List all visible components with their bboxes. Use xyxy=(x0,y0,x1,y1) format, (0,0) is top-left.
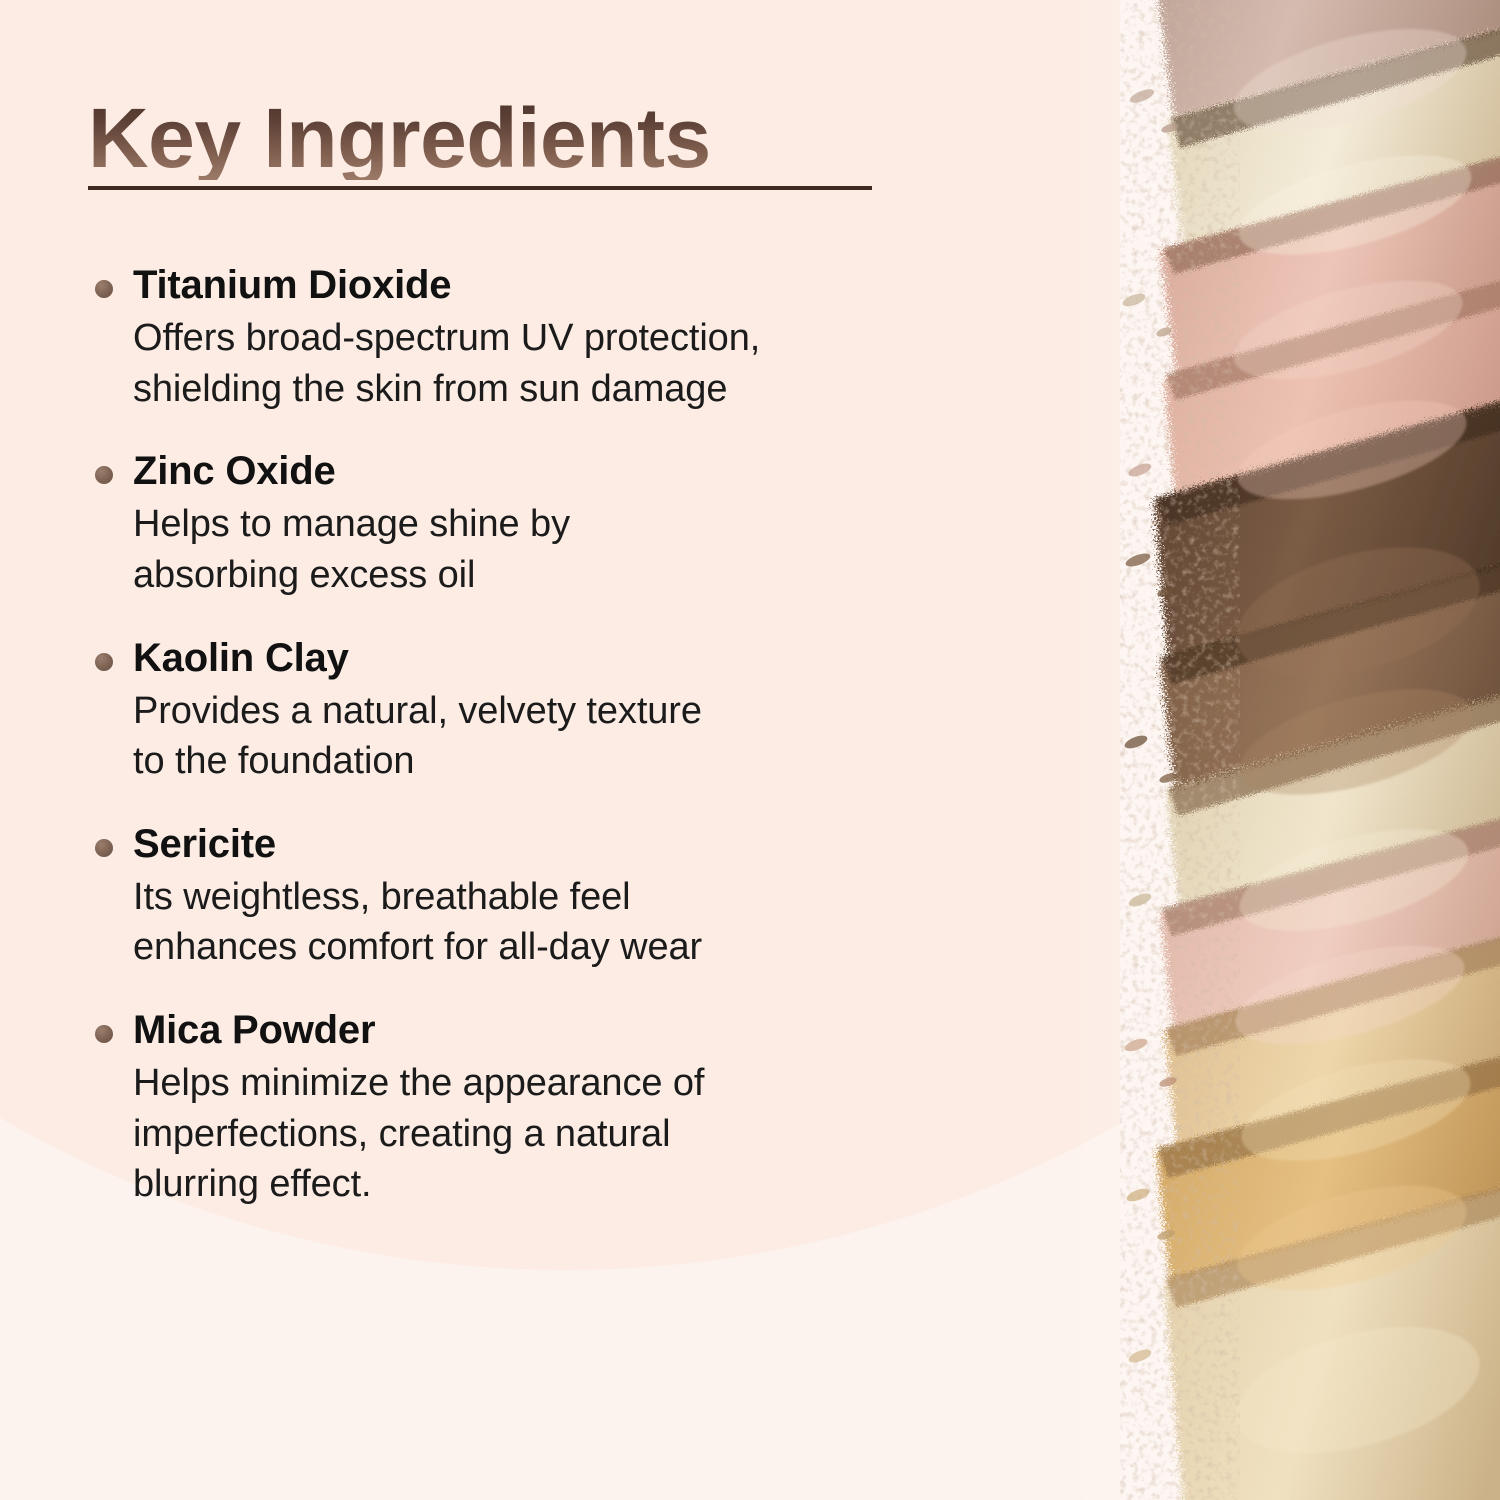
description-line: enhances comfort for all-day wear xyxy=(133,922,988,973)
ingredient-name: Mica Powder xyxy=(88,1007,988,1054)
description-line: blurring effect. xyxy=(133,1159,988,1210)
bullet-icon xyxy=(95,280,113,298)
description-line: imperfections, creating a natural xyxy=(133,1109,988,1160)
ingredients-infographic: Key Ingredients Titanium Dioxide Offers … xyxy=(0,0,1500,1500)
list-item: Kaolin Clay Provides a natural, velvety … xyxy=(88,635,988,787)
ingredient-description: Provides a natural, velvety texture to t… xyxy=(88,686,988,787)
bullet-icon xyxy=(95,653,113,671)
ingredient-name: Sericite xyxy=(88,821,988,868)
list-item: Titanium Dioxide Offers broad-spectrum U… xyxy=(88,262,988,414)
description-line: shielding the skin from sun damage xyxy=(133,364,988,415)
description-line: Provides a natural, velvety texture xyxy=(133,686,988,737)
ingredient-name: Kaolin Clay xyxy=(88,635,988,682)
ingredient-name: Zinc Oxide xyxy=(88,448,988,495)
ingredient-description: Offers broad-spectrum UV protection, shi… xyxy=(88,313,988,414)
description-line: absorbing excess oil xyxy=(133,550,988,601)
list-item: Mica Powder Helps minimize the appearanc… xyxy=(88,1007,988,1210)
bullet-icon xyxy=(95,1025,113,1043)
description-line: Helps to manage shine by xyxy=(133,499,988,550)
ingredient-description: Helps minimize the appearance of imperfe… xyxy=(88,1058,988,1210)
ingredient-name-label: Zinc Oxide xyxy=(133,449,336,493)
description-line: Helps minimize the appearance of xyxy=(133,1058,988,1109)
ingredient-name-label: Titanium Dioxide xyxy=(133,263,451,307)
powder-swatch-image xyxy=(1120,0,1500,1500)
bullet-icon xyxy=(95,839,113,857)
ingredient-name: Titanium Dioxide xyxy=(88,262,988,309)
description-line: Offers broad-spectrum UV protection, xyxy=(133,313,988,364)
description-line: to the foundation xyxy=(133,736,988,787)
list-item: Sericite Its weightless, breathable feel… xyxy=(88,821,988,973)
ingredient-description: Helps to manage shine by absorbing exces… xyxy=(88,499,988,600)
bullet-icon xyxy=(95,466,113,484)
ingredient-description: Its weightless, breathable feel enhances… xyxy=(88,872,988,973)
page-title: Key Ingredients xyxy=(88,96,711,180)
ingredient-name-label: Sericite xyxy=(133,822,276,866)
ingredients-list: Titanium Dioxide Offers broad-spectrum U… xyxy=(88,262,988,1210)
content-column: Key Ingredients Titanium Dioxide Offers … xyxy=(0,0,1010,1500)
list-item: Zinc Oxide Helps to manage shine by abso… xyxy=(88,448,988,600)
ingredient-name-label: Mica Powder xyxy=(133,1008,375,1052)
page-title-underline xyxy=(88,186,872,190)
description-line: Its weightless, breathable feel xyxy=(133,872,988,923)
ingredient-name-label: Kaolin Clay xyxy=(133,636,349,680)
